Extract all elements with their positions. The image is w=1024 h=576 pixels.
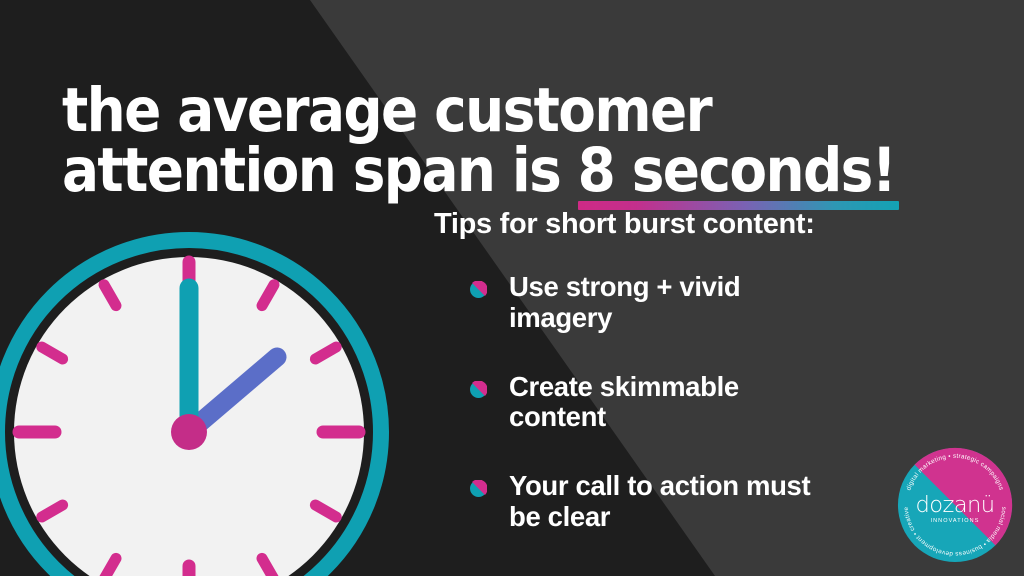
list-item: Your call to action must be clear — [470, 471, 940, 533]
split-circle-bullet-icon — [470, 281, 487, 298]
logo-tagline: INNOVATIONS — [931, 518, 980, 524]
headline-accent-8-seconds: 8 seconds! — [578, 141, 895, 203]
dozanu-logo[interactable]: digital marketing • strategic campaigns … — [896, 446, 1014, 564]
headline-line-2-prefix: attention span is — [62, 135, 578, 206]
social-graphic-canvas: the average customer attention span is 8… — [0, 0, 1024, 576]
headline-line-2: attention span is 8 seconds! — [62, 141, 942, 203]
list-item-label: Create skimmable content — [509, 372, 839, 434]
list-item-label: Use strong + vivid imagery — [509, 272, 839, 334]
tips-list: Use strong + vivid imagery Create skimma… — [470, 272, 940, 533]
list-item: Create skimmable content — [470, 372, 940, 434]
logo-wordmark: dozanü — [915, 492, 994, 518]
split-circle-bullet-icon — [470, 480, 487, 497]
headline: the average customer attention span is 8… — [62, 81, 942, 203]
list-item-label: Your call to action must be clear — [509, 471, 839, 533]
headline-line-1: the average customer — [62, 81, 942, 141]
subheading: Tips for short burst content: — [434, 208, 815, 241]
clock-illustration — [0, 228, 393, 576]
split-circle-bullet-icon — [470, 381, 487, 398]
clock-center-hub — [171, 414, 207, 450]
list-item: Use strong + vivid imagery — [470, 272, 940, 334]
